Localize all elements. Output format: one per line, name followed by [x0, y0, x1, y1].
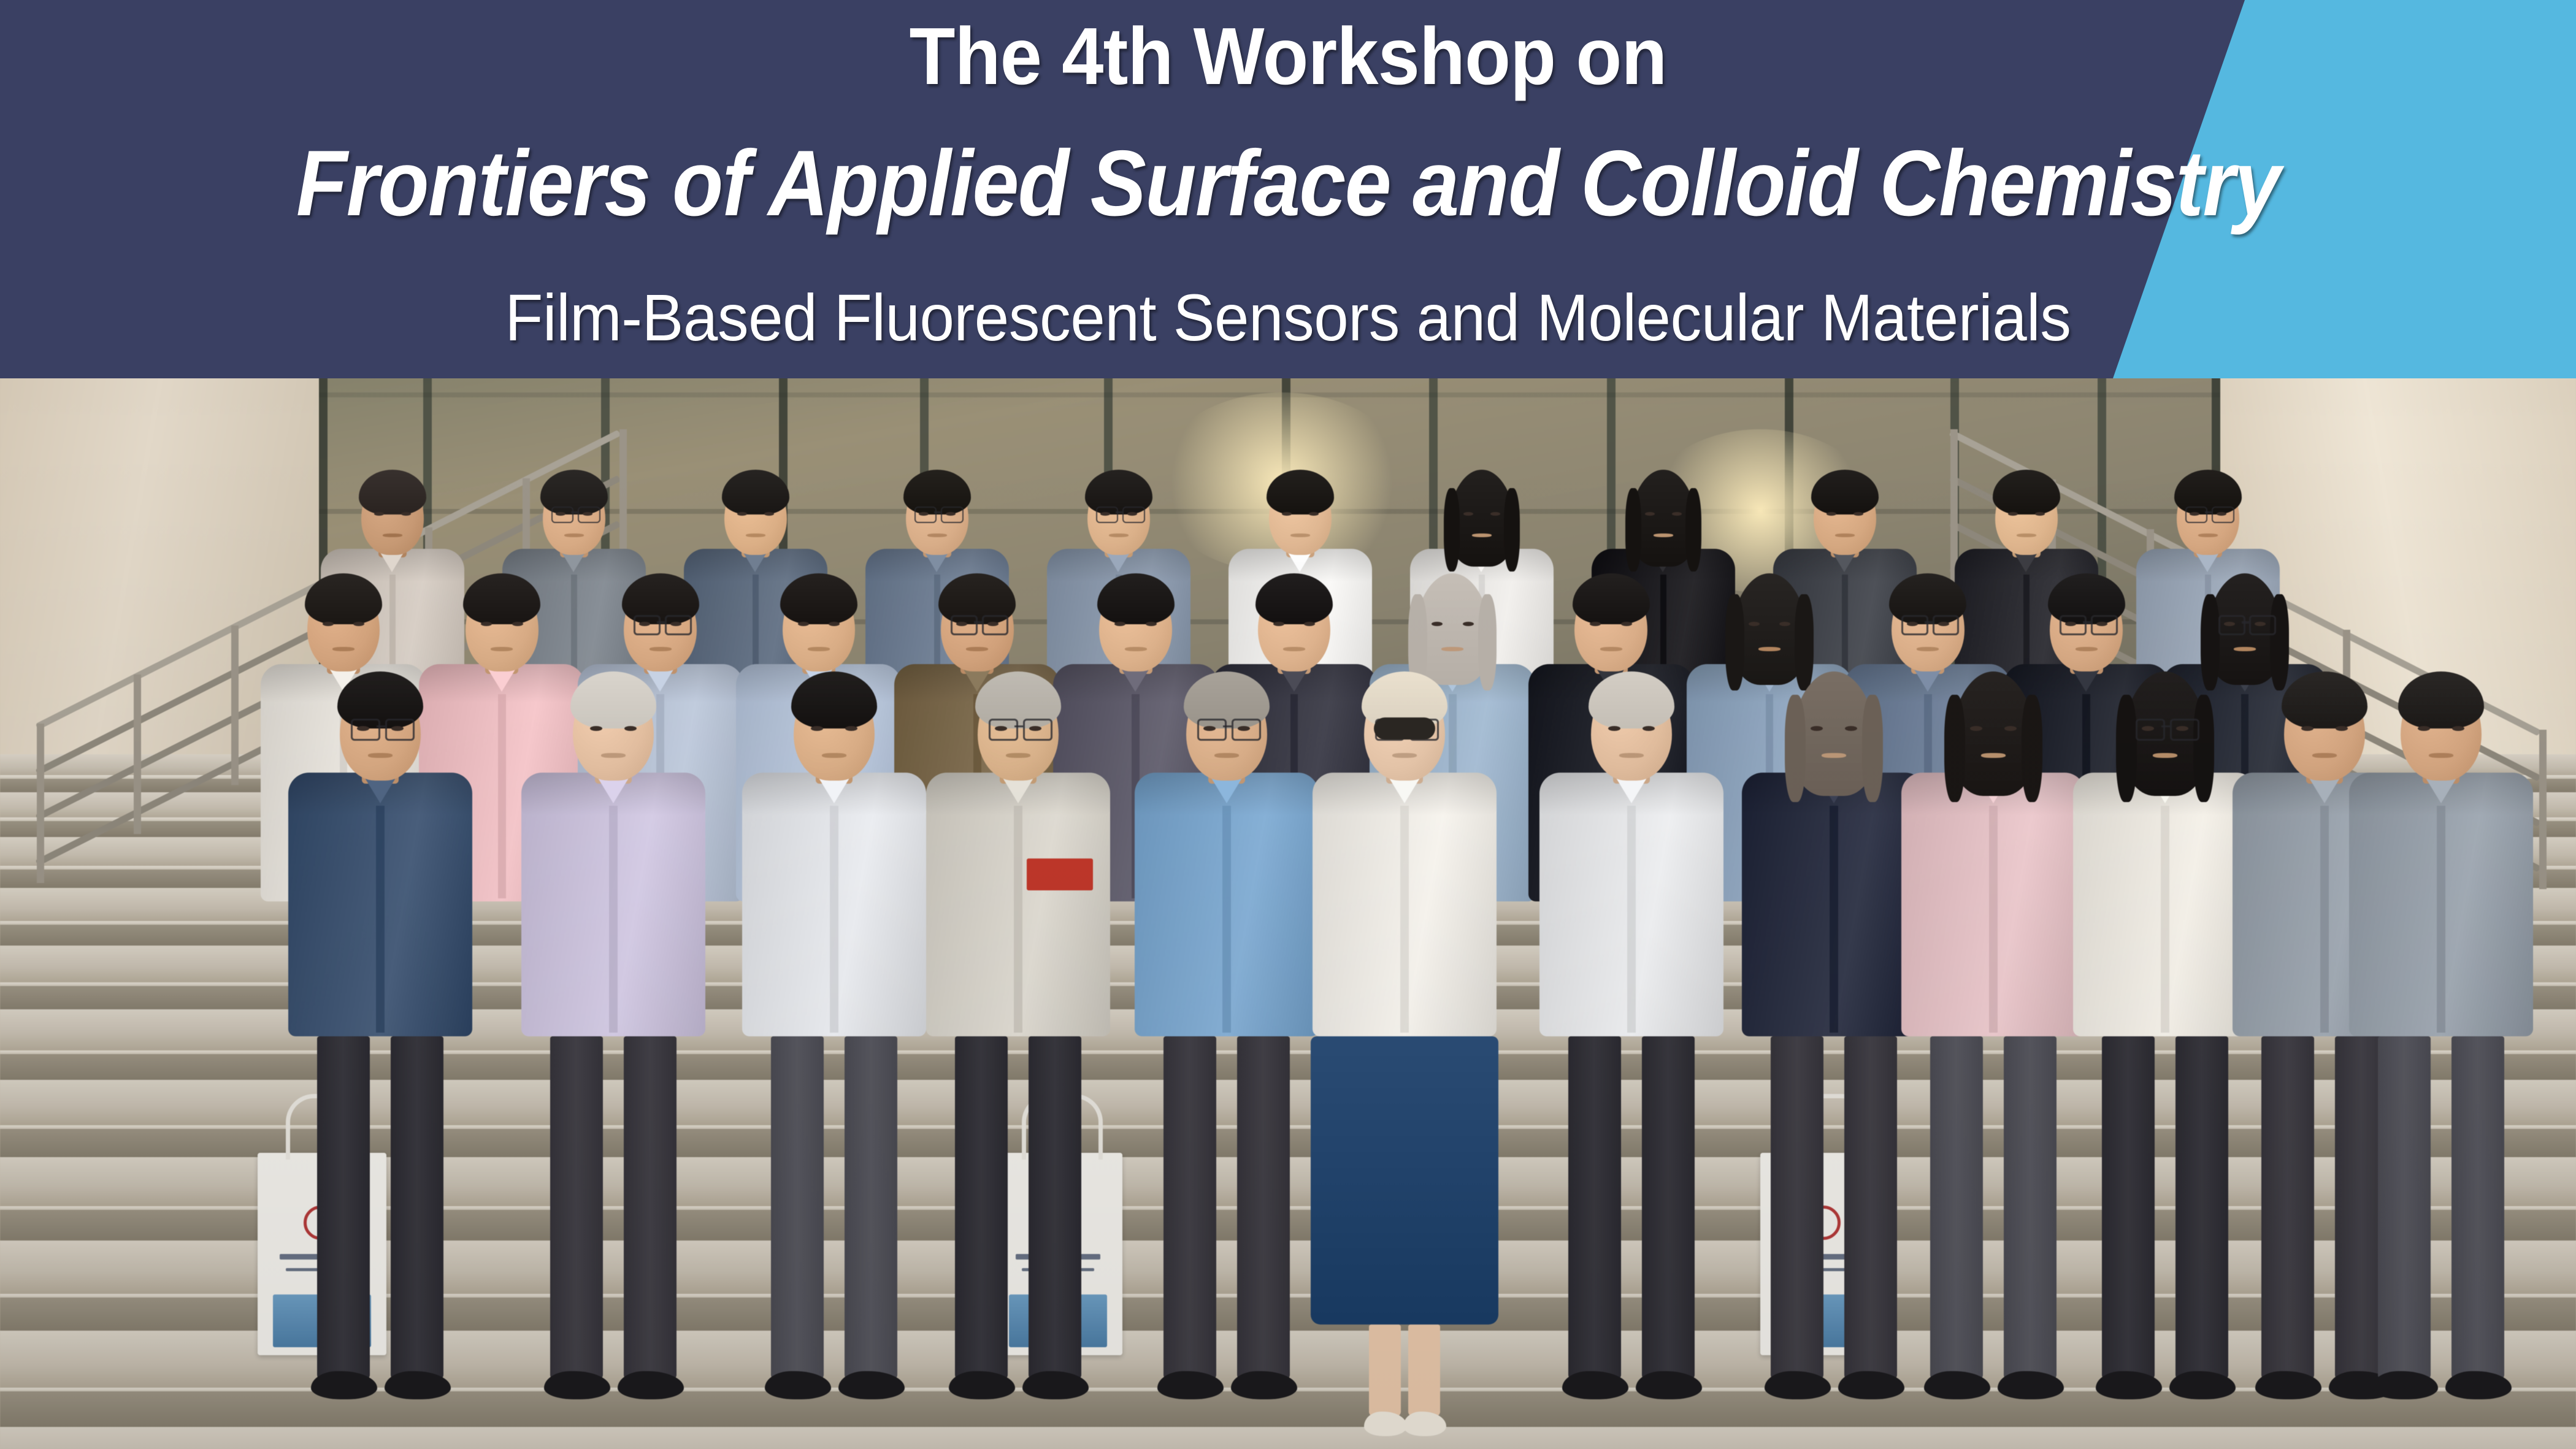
mouth — [564, 533, 583, 537]
eye-right — [1845, 726, 1857, 731]
leg-left — [955, 1036, 1008, 1380]
glasses-icon — [2218, 615, 2245, 635]
glasses-icon — [1122, 507, 1145, 523]
mouth — [2234, 647, 2256, 651]
mouth — [1441, 647, 1463, 651]
hair — [359, 470, 426, 514]
leg-left — [2378, 1036, 2431, 1380]
leg-left — [1163, 1036, 1216, 1380]
mouth — [491, 647, 513, 651]
hair-side-right — [2270, 594, 2289, 690]
mouth — [2429, 753, 2453, 758]
hair-side-right — [2193, 695, 2214, 801]
hair-side-right — [1504, 488, 1520, 572]
glasses-icon — [665, 615, 692, 635]
leg-right — [845, 1036, 897, 1380]
shirt-placket — [1014, 806, 1022, 1033]
leg-left — [1771, 1036, 1823, 1380]
mouth — [2076, 647, 2098, 651]
glasses-icon — [2091, 615, 2118, 635]
glasses-bridge — [1223, 725, 1232, 728]
eye-left — [1811, 726, 1823, 731]
eye-left — [590, 726, 602, 731]
glasses-icon — [951, 615, 978, 635]
mouth — [1600, 647, 1622, 651]
glasses-icon — [385, 719, 415, 741]
shirt-placket — [609, 806, 618, 1033]
eye-right — [2336, 726, 2348, 731]
glasses-icon — [578, 507, 600, 523]
leg-left — [2102, 1036, 2155, 1380]
glasses-icon — [2170, 719, 2199, 741]
leg-right — [1408, 1325, 1440, 1417]
banner-text-block: The 4th Workshop on Frontiers of Applied… — [0, 0, 2576, 378]
shirt-placket — [1627, 806, 1636, 1033]
glasses-icon — [1096, 507, 1119, 523]
leg-right — [2175, 1036, 2228, 1380]
shirt-placket — [1400, 806, 1409, 1033]
mouth — [383, 533, 402, 537]
leg-right — [2004, 1036, 2057, 1380]
mouth — [332, 647, 355, 651]
leg-left — [317, 1036, 370, 1380]
hair-side-left — [2116, 695, 2137, 801]
hair-side-left — [1725, 594, 1744, 690]
hair-side-right — [1685, 488, 1702, 572]
eye-left — [2418, 726, 2430, 731]
leg-left — [1930, 1036, 1983, 1380]
mouth — [2153, 753, 2177, 758]
hair-side-left — [1444, 488, 1460, 572]
glasses-icon — [1197, 719, 1227, 741]
skirt — [1311, 1036, 1498, 1325]
mouth — [746, 533, 765, 537]
glasses-bridge — [1116, 511, 1122, 513]
eye-left — [2301, 726, 2313, 731]
hair — [1267, 470, 1333, 514]
leg-right — [1844, 1036, 1897, 1380]
shirt-placket — [498, 694, 506, 898]
shirt-placket — [2161, 806, 2169, 1033]
leg-left — [1568, 1036, 1621, 1380]
leg-right — [1029, 1036, 1081, 1380]
glasses-icon — [1933, 615, 1960, 635]
glasses-bridge — [934, 511, 941, 513]
mouth — [2312, 753, 2337, 758]
leg-right — [1642, 1036, 1695, 1380]
shirt-placket — [830, 806, 838, 1033]
glasses-icon — [1232, 719, 1261, 741]
glasses-icon — [1901, 615, 1928, 635]
mouth — [2198, 533, 2217, 537]
mouth — [1109, 533, 1128, 537]
mouth — [1006, 753, 1030, 758]
hair — [2398, 671, 2484, 728]
glasses-icon — [634, 615, 661, 635]
hair — [722, 470, 789, 514]
hair — [1993, 470, 2060, 514]
glasses-bridge — [974, 621, 982, 623]
mouth — [1917, 647, 1939, 651]
banner-line-2: Frontiers of Applied Surface and Colloid… — [129, 130, 2447, 237]
glasses-icon — [982, 615, 1009, 635]
leg-right — [624, 1036, 677, 1380]
leg-left — [2261, 1036, 2314, 1380]
glasses-icon — [551, 507, 574, 523]
glasses-icon — [989, 719, 1018, 741]
eye-left — [811, 726, 823, 731]
shoe-left — [1364, 1412, 1407, 1436]
eye-right — [624, 726, 637, 731]
shirt-placket — [1830, 806, 1838, 1033]
leg-left — [771, 1036, 824, 1380]
hair-side-left — [2201, 594, 2220, 690]
shirt-placket — [2437, 806, 2445, 1033]
banner-line-3: Film-Based Fluorescent Sensors and Molec… — [77, 279, 2499, 356]
mouth — [1619, 753, 1644, 758]
mouth — [650, 647, 672, 651]
mouth — [927, 533, 946, 537]
eye-right — [1643, 726, 1655, 731]
mouth — [1472, 533, 1491, 537]
glasses-icon — [2185, 507, 2208, 523]
glasses-bridge — [571, 511, 578, 513]
mouth — [1654, 533, 1673, 537]
mouth — [822, 753, 846, 758]
hair-side-left — [1785, 695, 1806, 801]
glasses-icon — [2249, 615, 2276, 635]
hair-side-left — [1944, 695, 1965, 801]
hair-side-right — [1862, 695, 1883, 801]
glasses-bridge — [2242, 621, 2250, 623]
hair-side-right — [1478, 594, 1497, 690]
hair-side-left — [1625, 488, 1642, 572]
eye-right — [845, 726, 857, 731]
eye-left — [1970, 726, 1982, 731]
glasses-bridge — [2161, 725, 2170, 728]
banner-line-1: The 4th Workshop on — [90, 10, 2486, 102]
glasses-icon — [941, 507, 964, 523]
hair-side-right — [1795, 594, 1814, 690]
sunglasses-icon — [1374, 717, 1435, 740]
title-banner: The 4th Workshop on Frontiers of Applied… — [0, 0, 2576, 378]
name-badge — [1027, 858, 1093, 890]
glasses-bridge — [1925, 621, 1933, 623]
glasses-icon — [2212, 507, 2234, 523]
mouth — [1835, 533, 1854, 537]
eye-right — [2452, 726, 2464, 731]
glasses-bridge — [1014, 725, 1023, 728]
glasses-bridge — [377, 725, 385, 728]
mouth — [601, 753, 626, 758]
workshop-group-photo-poster: 院 /* decorative mullions + glass reflect… — [0, 0, 2576, 1449]
mouth — [1125, 647, 1147, 651]
glasses-icon — [351, 719, 380, 741]
mouth — [2017, 533, 2036, 537]
leg-right — [391, 1036, 443, 1380]
mouth — [1758, 647, 1781, 651]
shoe-right — [1403, 1412, 1446, 1436]
mouth — [1283, 647, 1305, 651]
mouth — [1981, 753, 2006, 758]
shirt-placket — [1222, 806, 1231, 1033]
glasses-icon — [2060, 615, 2087, 635]
shirt-placket — [376, 806, 385, 1033]
leg-left — [550, 1036, 603, 1380]
mouth — [966, 647, 988, 651]
leg-left — [1369, 1325, 1401, 1417]
glasses-bridge — [2083, 621, 2091, 623]
mouth — [1214, 753, 1239, 758]
leg-right — [2451, 1036, 2504, 1380]
glasses-bridge — [2205, 511, 2212, 513]
mouth — [1822, 753, 1846, 758]
hair — [1811, 470, 1878, 514]
glasses-icon — [1023, 719, 1052, 741]
hair-side-right — [2022, 695, 2042, 801]
shirt-placket — [2320, 806, 2329, 1033]
leg-right — [1237, 1036, 1290, 1380]
mouth — [1290, 533, 1309, 537]
glasses-icon — [914, 507, 937, 523]
mouth — [368, 753, 393, 758]
mouth — [1392, 753, 1417, 758]
glasses-bridge — [657, 621, 665, 623]
eye-left — [1608, 726, 1620, 731]
glasses-icon — [2136, 719, 2165, 741]
eye-right — [2004, 726, 2017, 731]
shirt-placket — [1989, 806, 1998, 1033]
mouth — [808, 647, 830, 651]
